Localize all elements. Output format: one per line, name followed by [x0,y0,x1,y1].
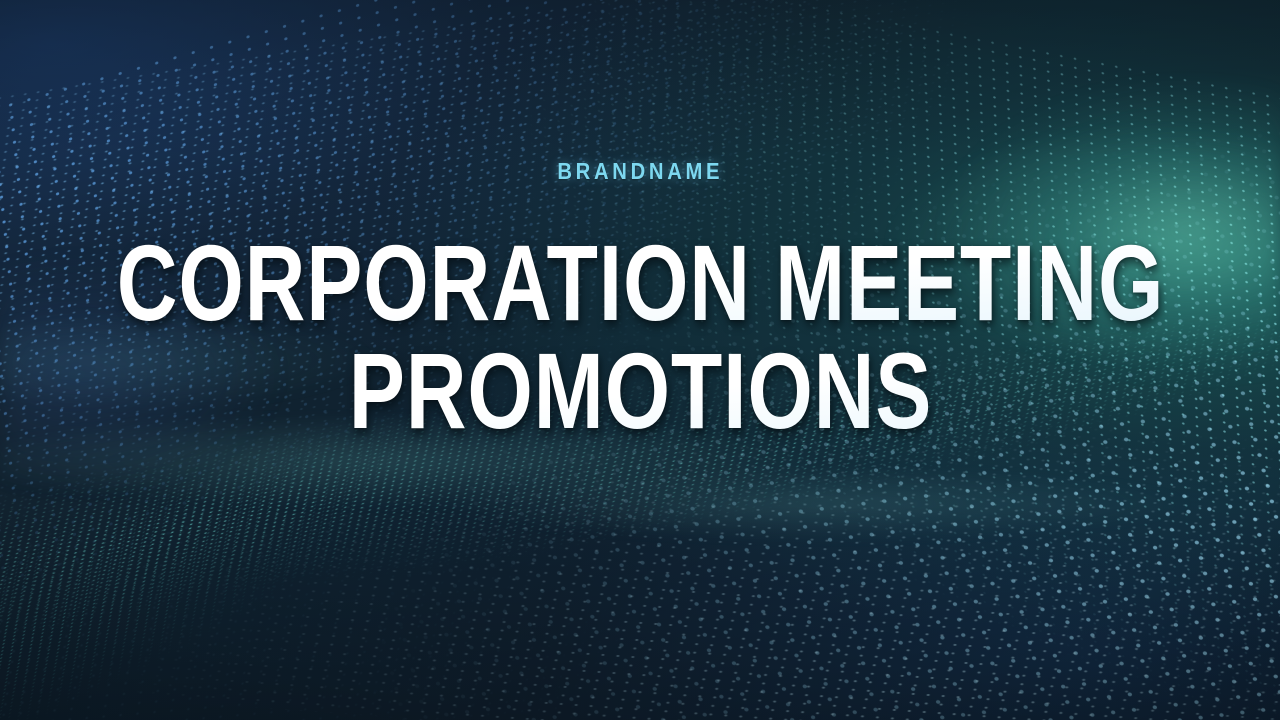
page-title-line-2: PROMOTIONS [116,339,1164,443]
page-title-line-1: CORPORATION MEETING [116,231,1164,335]
brand-name-label: BRANDNAME [557,160,723,183]
promo-title-slide: BRANDNAME CORPORATION MEETING PROMOTIONS [0,0,1280,720]
page-title: CORPORATION MEETING PROMOTIONS [0,231,1280,442]
slide-content: BRANDNAME CORPORATION MEETING PROMOTIONS [0,0,1280,720]
